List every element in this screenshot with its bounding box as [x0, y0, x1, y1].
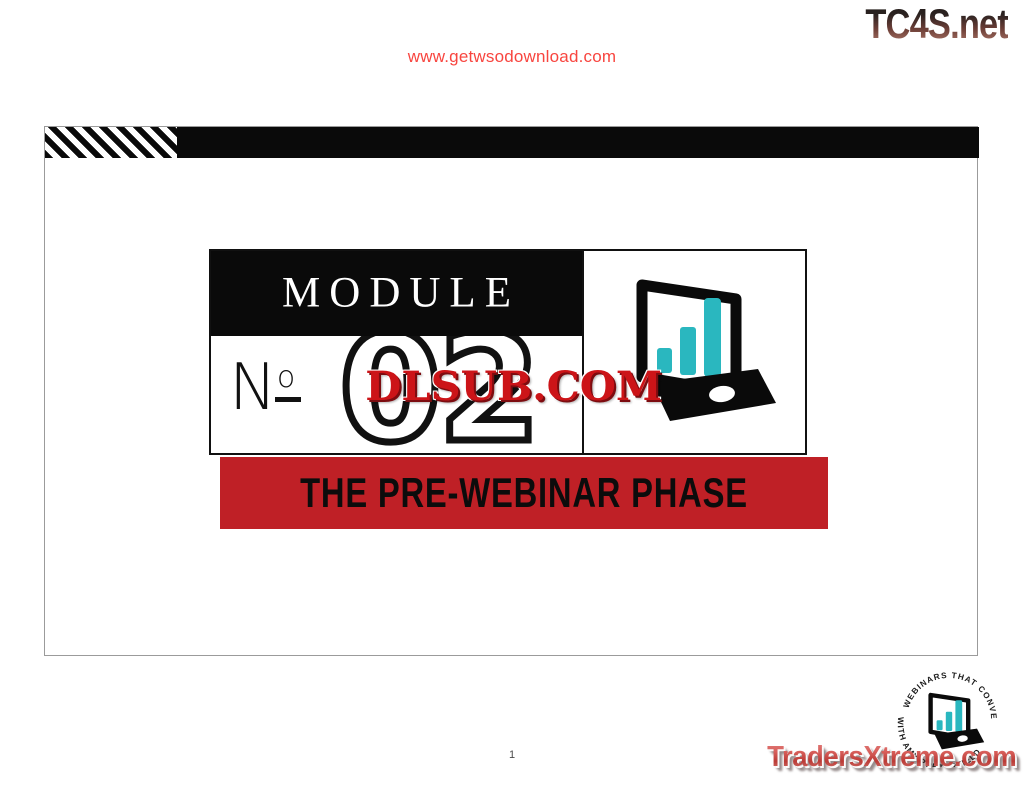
- badge-arc-top-textpath: WEBINARS THAT CONVERT: [887, 655, 998, 720]
- slide-top-bar: [45, 127, 979, 158]
- overlay-watermark: DLSUB.COM: [365, 367, 662, 407]
- module-header-band: MODULE: [211, 251, 582, 336]
- module-icon-cell: [584, 251, 805, 453]
- module-card: MODULE No 02: [209, 249, 807, 455]
- diagonal-stripes-decoration: [45, 127, 177, 158]
- title-band: THE PRE-WEBINAR PHASE: [220, 457, 828, 529]
- number-sign-superscript: o: [277, 363, 295, 393]
- laptop-bar-chart-icon: [608, 265, 780, 437]
- slide-title: THE PRE-WEBINAR PHASE: [287, 472, 761, 514]
- brand-watermark-bottom: TradersXtreme.com: [767, 742, 1016, 774]
- number-sign-glyph: No: [229, 356, 295, 420]
- number-sign-letter: N: [229, 351, 277, 425]
- badge-arc-top-text: WEBINARS THAT CONVERT: [887, 655, 998, 720]
- slide-canvas: MODULE No 02 THE: [44, 126, 978, 656]
- source-url-watermark: www.getwsodownload.com: [0, 47, 1024, 67]
- brand-watermark-top: TC4S.net: [865, 2, 1008, 46]
- module-header-label: MODULE: [211, 271, 582, 314]
